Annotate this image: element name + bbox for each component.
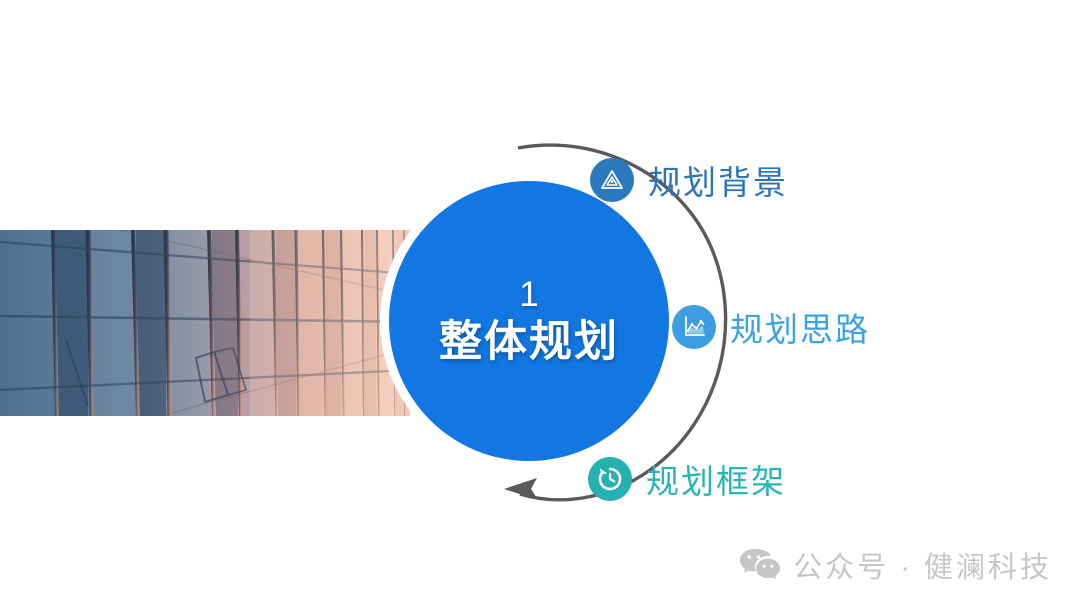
watermark-text: 公众号 · 健澜科技 — [793, 544, 1052, 586]
step-label: 规划背景 — [648, 156, 788, 204]
wechat-icon — [739, 547, 781, 583]
slide-canvas: 1 整体规划 规划背景 规划思路 — [0, 0, 1080, 608]
history-clock-icon — [588, 457, 632, 501]
watermark: 公众号 · 健澜科技 — [739, 544, 1052, 586]
center-number: 1 — [519, 277, 538, 312]
line-chart-icon — [672, 305, 716, 349]
step-item-planning-framework[interactable]: 规划框架 — [588, 455, 786, 503]
center-badge[interactable]: 1 整体规划 — [389, 181, 669, 461]
arc-arrowhead — [504, 478, 538, 500]
step-item-planning-approach[interactable]: 规划思路 — [672, 303, 870, 351]
center-title: 整体规划 — [439, 320, 619, 365]
step-label: 规划思路 — [730, 303, 870, 351]
step-label: 规划框架 — [646, 455, 786, 503]
mountain-triangle-icon — [590, 158, 634, 202]
step-item-planning-background[interactable]: 规划背景 — [590, 156, 788, 204]
